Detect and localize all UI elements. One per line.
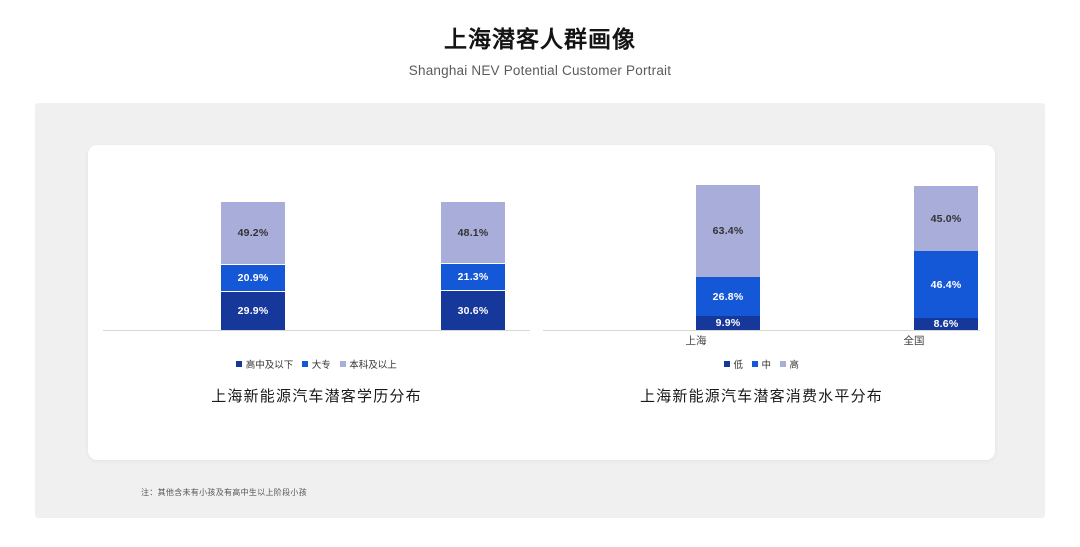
stacked-bar: 30.6%21.3%48.1% [441,202,505,330]
page-title: 上海潜客人群画像 [444,26,636,54]
page-header: 上海潜客人群画像 Shanghai NEV Potential Customer… [0,0,1080,103]
chart-legend: 高中及以下大专本科及以上 [103,357,530,371]
footnote: 注：其他含未有小孩及有高中生以上阶段小孩 [141,487,307,498]
legend-swatch-icon [752,361,758,367]
bar-segment-高中及以下: 30.6% [441,291,505,330]
legend-label: 中 [761,357,771,371]
legend-label: 低 [733,357,743,371]
legend-item[interactable]: 高 [780,357,799,371]
content-panel: 29.9%20.9%49.2%30.6%21.3%48.1% 高中及以下大专本科… [35,103,1045,518]
legend-item[interactable]: 大专 [302,357,331,371]
bar-segment-本科及以上: 49.2% [221,202,285,265]
legend-item[interactable]: 高中及以下 [236,357,293,371]
x-axis-line [543,330,980,331]
legend-item[interactable]: 本科及以上 [340,357,397,371]
category-labels: 上海全国 [543,333,980,349]
legend-label: 高中及以下 [246,357,294,371]
stacked-bar: 29.9%20.9%49.2% [221,202,285,330]
bar-segment-低: 9.9% [696,316,760,330]
bar-segment-大专: 20.9% [221,265,285,292]
category-labels [103,333,530,349]
charts-card: 29.9%20.9%49.2%30.6%21.3%48.1% 高中及以下大专本科… [88,145,995,460]
category-label: 全国 [859,333,969,348]
bar-segment-中: 26.8% [696,277,760,316]
stacked-bar: 8.6%46.4%45.0% [914,186,978,330]
legend-swatch-icon [724,361,730,367]
bar-segment-低: 8.6% [914,318,978,330]
plot-area: 29.9%20.9%49.2%30.6%21.3%48.1% [103,145,530,331]
legend-label: 大专 [312,357,331,371]
legend-item[interactable]: 低 [724,357,743,371]
legend-swatch-icon [302,361,308,367]
chart-caption: 上海新能源汽车潜客消费水平分布 [543,385,980,406]
legend-item[interactable]: 中 [752,357,771,371]
chart-education-distribution: 29.9%20.9%49.2%30.6%21.3%48.1% 高中及以下大专本科… [103,145,530,460]
x-axis-line [103,330,530,331]
legend-swatch-icon [236,361,242,367]
legend-label: 本科及以上 [349,357,397,371]
legend-label: 高 [790,357,800,371]
legend-swatch-icon [780,361,786,367]
bar-segment-本科及以上: 48.1% [441,202,505,264]
legend-swatch-icon [340,361,346,367]
chart-legend: 低中高 [543,357,980,371]
category-label: 上海 [641,333,751,348]
bar-segment-大专: 21.3% [441,264,505,291]
stacked-bar: 9.9%26.8%63.4% [696,185,760,330]
plot-area: 9.9%26.8%63.4%8.6%46.4%45.0% [543,145,980,331]
chart-consumption-level-distribution: 9.9%26.8%63.4%8.6%46.4%45.0% 上海全国 低中高 上海… [543,145,980,460]
bar-segment-高: 63.4% [696,185,760,277]
bar-segment-中: 46.4% [914,251,978,318]
chart-caption: 上海新能源汽车潜客学历分布 [103,385,530,406]
page-subtitle: Shanghai NEV Potential Customer Portrait [409,63,671,78]
bar-segment-高: 45.0% [914,186,978,251]
bar-segment-高中及以下: 29.9% [221,292,285,330]
